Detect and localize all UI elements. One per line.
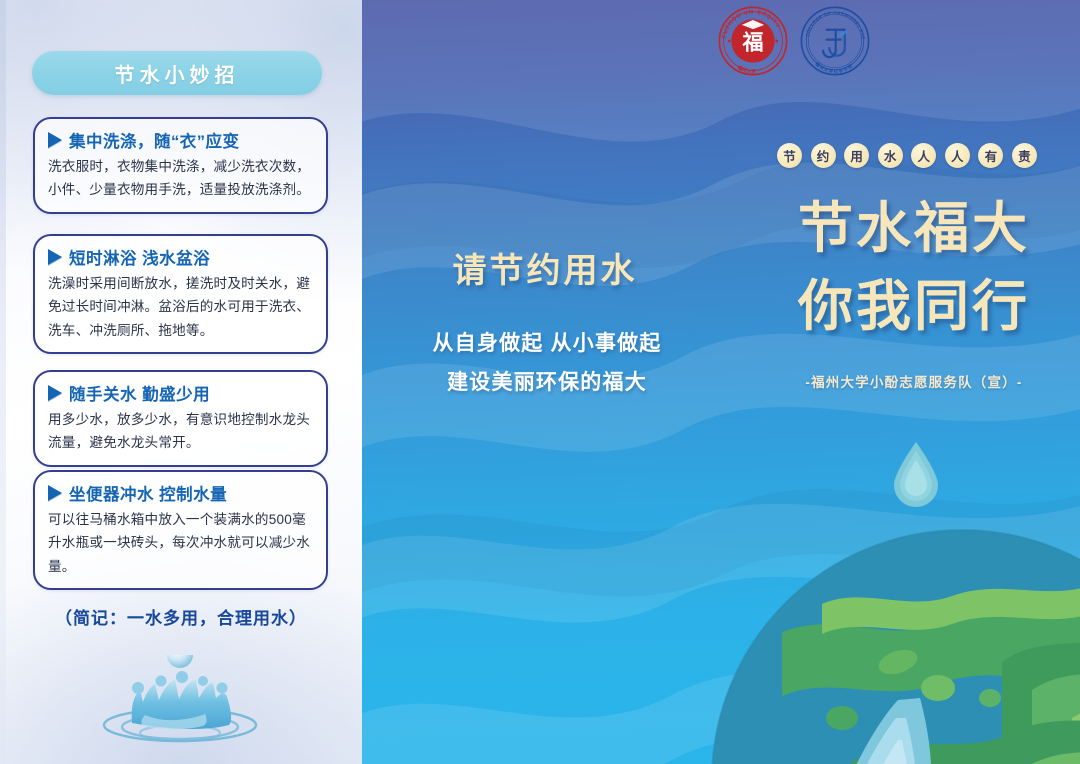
tip-card-2-body: 洗澡时采用间断放水，搓洗时及时关水，避免过长时间冲淋。盆浴后的水可用于洗衣、洗车… [48, 272, 313, 342]
secondary-subtitle: 从自身做起 从小事做起 建设美丽环保的福大 [382, 325, 712, 403]
main-poster-panel: FUZHOU UNIV ERSITY 福 福州大学 [362, 0, 1080, 764]
main-title-line-1: 节水福大 [754, 189, 1074, 267]
tips-header-pill: 节水小妙招 [32, 51, 322, 95]
main-title: 节水福大 你我同行 [754, 189, 1074, 345]
slogan-badge-6: 人 [945, 143, 970, 168]
poster-root: 节水小妙招 集中洗涤，随“衣”应变 洗衣服时，衣物集中洗涤，减少洗衣次数，小件、… [0, 0, 1080, 764]
tip-card-3[interactable]: 随手关水 勤盛少用 用多少水，放多少水，有意识地控制水龙头流量，避免水龙头常开。 [33, 370, 328, 467]
slogan-badge-row: 节 约 用 水 人 人 有 责 [777, 143, 1037, 168]
earth-globe-icon [702, 512, 1080, 764]
triangle-right-icon [48, 132, 62, 148]
secondary-title: 请节约用水 [400, 243, 690, 292]
left-tips-panel: 节水小妙招 集中洗涤，随“衣”应变 洗衣服时，衣物集中洗涤，减少洗衣次数，小件、… [0, 0, 362, 764]
tip-card-1-head: 集中洗涤，随“衣”应变 [48, 128, 313, 152]
slogan-badge-1: 节 [777, 143, 802, 168]
tip-card-4-title: 坐便器冲水 控制水量 [69, 481, 227, 505]
tip-card-1[interactable]: 集中洗涤，随“衣”应变 洗衣服时，衣物集中洗涤，减少洗衣次数，小件、少量衣物用手… [33, 117, 328, 214]
tip-card-3-head: 随手关水 勤盛少用 [48, 381, 313, 405]
main-title-line-2: 你我同行 [754, 267, 1074, 345]
tip-card-2[interactable]: 短时淋浴 浅水盆浴 洗澡时采用间断放水，搓洗时及时关水，避免过长时间冲淋。盆浴后… [33, 234, 328, 354]
tip-card-4-head: 坐便器冲水 控制水量 [48, 481, 313, 505]
tip-card-1-body: 洗衣服时，衣物集中洗涤，减少洗衣次数，小件、少量衣物用手洗，适量投放洗涤剂。 [48, 155, 313, 202]
slogan-badge-2: 约 [811, 143, 836, 168]
tip-card-4-body: 可以往马桶水箱中放入一个装满水的500毫升水瓶或一块砖头，每次冲水就可以减少水量… [48, 508, 313, 578]
svg-text:福: 福 [742, 31, 764, 54]
organization-signature: -福州大学小酚志愿服务队（宣）- [754, 371, 1074, 391]
logo-row: FUZHOU UNIV ERSITY 福 福州大学 [718, 4, 918, 78]
secondary-subtitle-line-1: 从自身做起 从小事做起 [382, 325, 712, 364]
tip-card-1-title: 集中洗涤，随“衣”应变 [69, 128, 240, 152]
tip-card-3-title: 随手关水 勤盛少用 [69, 381, 210, 405]
triangle-right-icon [48, 249, 62, 265]
tip-card-2-title: 短时淋浴 浅水盆浴 [69, 245, 210, 269]
secondary-subtitle-line-2: 建设美丽环保的福大 [382, 364, 712, 403]
tip-card-2-head: 短时淋浴 浅水盆浴 [48, 245, 313, 269]
triangle-right-icon [48, 385, 62, 401]
slogan-badge-4: 水 [878, 143, 903, 168]
svg-text:福州大学: 福州大学 [735, 64, 756, 76]
tip-card-4[interactable]: 坐便器冲水 控制水量 可以往马桶水箱中放入一个装满水的500毫升水瓶或一块砖头，… [33, 470, 328, 590]
water-splash-icon [75, 655, 285, 755]
tip-card-3-body: 用多少水，放多少水，有意识地控制水龙头流量，避免水龙头常开。 [48, 408, 313, 455]
slogan-badge-8: 责 [1012, 143, 1037, 168]
college-of-chemistry-seal-icon: COLLEGE OF CHEMISTRY FUZHOU UNIV 福州大学化学学… [800, 6, 870, 76]
tips-header-label: 节水小妙招 [115, 59, 240, 88]
water-drop-icon [890, 440, 942, 510]
tips-summary-note: （简记：一水多用，合理用水） [0, 604, 362, 629]
slogan-badge-3: 用 [844, 143, 869, 168]
fuzhou-university-seal-icon: FUZHOU UNIV ERSITY 福 福州大学 [718, 6, 788, 76]
slogan-badge-5: 人 [911, 143, 936, 168]
triangle-right-icon [48, 485, 62, 501]
slogan-badge-7: 有 [978, 143, 1003, 168]
svg-text:COLLEGE OF CHEMISTRY FUZHOU UN: COLLEGE OF CHEMISTRY FUZHOU UNIV [800, 6, 866, 40]
